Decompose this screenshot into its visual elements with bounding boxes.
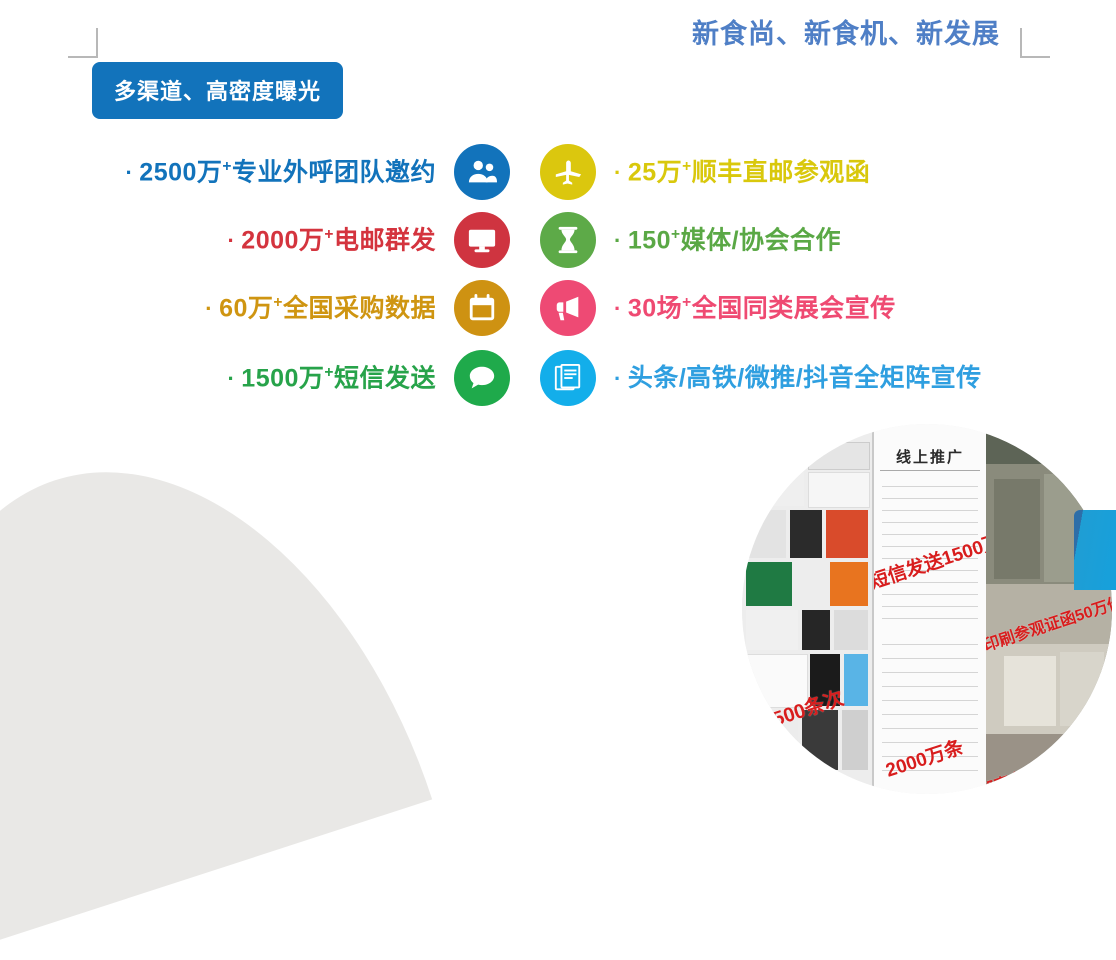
feature-text: ·2500万+专业外呼团队邀约 [125,159,436,185]
promotion-photo-collage: 1500条次 线上推广 短信发送1500万条 2000万条 [742,424,1112,794]
calendar-icon [454,280,510,336]
feature-row[interactable]: ·25万+顺丰直邮参观函 [540,142,870,202]
collage-table-rule [880,470,980,471]
feature-row[interactable]: ·30场+全国同类展会宣传 [540,278,896,338]
corner-bracket-left [68,28,98,58]
chat-bubble-icon [454,350,510,406]
collage-stamp-bottom: 2000万条 [882,732,967,782]
monitor-icon [454,212,510,268]
corner-bracket-right [1020,28,1050,58]
feature-row[interactable]: ·2000万+电邮群发 [227,210,510,270]
feature-text: ·2000万+电邮群发 [227,227,436,253]
feature-column-right: ·25万+顺丰直邮参观函·150+媒体/协会合作·30场+全国同类展会宣传·头条… [540,138,1040,418]
feature-text: ·25万+顺丰直邮参观函 [614,159,870,185]
feature-text: ·60万+全国采购数据 [205,295,436,321]
feature-text: ·头条/高铁/微推/抖音全矩阵宣传 [614,366,982,391]
hourglass-icon [540,212,596,268]
airplane-icon [540,144,596,200]
header-tagline: 新食尚、新食机、新发展 [692,12,1000,51]
feature-text: ·1500万+短信发送 [227,365,436,391]
feature-row[interactable]: ·2500万+专业外呼团队邀约 [125,142,510,202]
megaphone-icon [540,280,596,336]
feature-text: ·150+媒体/协会合作 [614,227,841,253]
section-title-badge: 多渠道、高密度曝光 [92,62,343,119]
collage-photo-panel: 印刷参观证函50万份 邮寄参观函25万封 [986,424,1112,794]
collage-table-title: 线上推广 [874,446,986,467]
feature-text: ·30场+全国同类展会宣传 [614,295,896,321]
blue-corner-accent [1074,510,1116,590]
collage-screenshots-panel: 1500条次 [742,424,872,794]
feature-list: ·2500万+专业外呼团队邀约·2000万+电邮群发·60万+全国采购数据·15… [0,138,1020,418]
feature-row[interactable]: ·1500万+短信发送 [227,348,510,408]
feature-row[interactable]: ·头条/高铁/微推/抖音全矩阵宣传 [540,348,982,408]
background-curve-decoration [0,400,432,960]
feature-row[interactable]: ·60万+全国采购数据 [205,278,510,338]
users-icon [454,144,510,200]
collage-table-panel: 线上推广 短信发送1500万条 2000万条 [872,424,988,794]
feature-column-left: ·2500万+专业外呼团队邀约·2000万+电邮群发·60万+全国采购数据·15… [10,138,510,418]
feature-row[interactable]: ·150+媒体/协会合作 [540,210,841,270]
document-icon [540,350,596,406]
